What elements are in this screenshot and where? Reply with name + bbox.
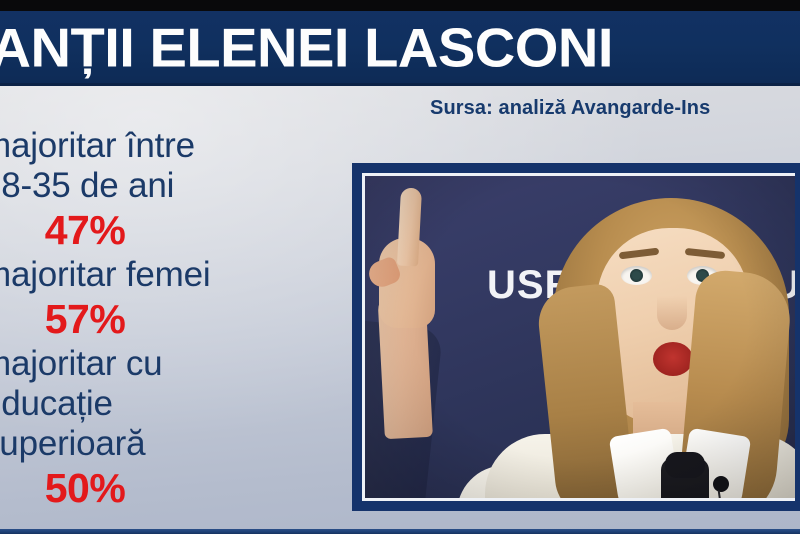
figure-iris <box>630 269 643 282</box>
figure-mouth <box>653 342 693 376</box>
stat-value: 50% <box>0 464 170 512</box>
stat-value: 57% <box>0 295 170 343</box>
stat-item-education: majoritar cu educație superioară 50% <box>0 344 282 512</box>
figure-tie-knot <box>665 452 705 478</box>
stat-value: 47% <box>0 206 170 254</box>
stat-label-line: educație <box>0 384 282 424</box>
stats-column: majoritar între 18-35 de ani 47% majorit… <box>0 126 282 513</box>
subject-photo: USR. U <box>365 176 795 498</box>
photo-inner-border: USR. U <box>362 173 795 501</box>
page-title: VOTANȚII ELENEI LASCONI <box>0 20 606 75</box>
letterbox-top-bar <box>0 0 800 11</box>
source-label: Sursa: analiză Avangarde-Ins <box>430 97 710 120</box>
photo-frame: USR. U <box>352 163 800 511</box>
stat-label-line: majoritar între <box>0 126 282 166</box>
broadcast-graphic: VOTANȚII ELENEI LASCONI Sursa: analiză A… <box>0 0 800 534</box>
stat-label-line: 18-35 de ani <box>0 166 282 206</box>
figure-nose <box>657 296 687 330</box>
page-title-text: VOTANȚII ELENEI LASCONI <box>0 20 613 75</box>
stat-label-line: majoritar femei <box>0 255 282 295</box>
figure-index-finger <box>397 188 422 267</box>
figure-eye <box>621 266 652 285</box>
stat-label-line: superioară <box>0 424 282 464</box>
bottom-rule <box>0 529 800 534</box>
stat-item-gender: majoritar femei 57% <box>0 255 282 343</box>
lapel-microphone-icon <box>713 476 729 492</box>
stat-label-line: majoritar cu <box>0 344 282 384</box>
title-banner: VOTANȚII ELENEI LASCONI <box>0 11 800 86</box>
stat-item-age: majoritar între 18-35 de ani 47% <box>0 126 282 254</box>
